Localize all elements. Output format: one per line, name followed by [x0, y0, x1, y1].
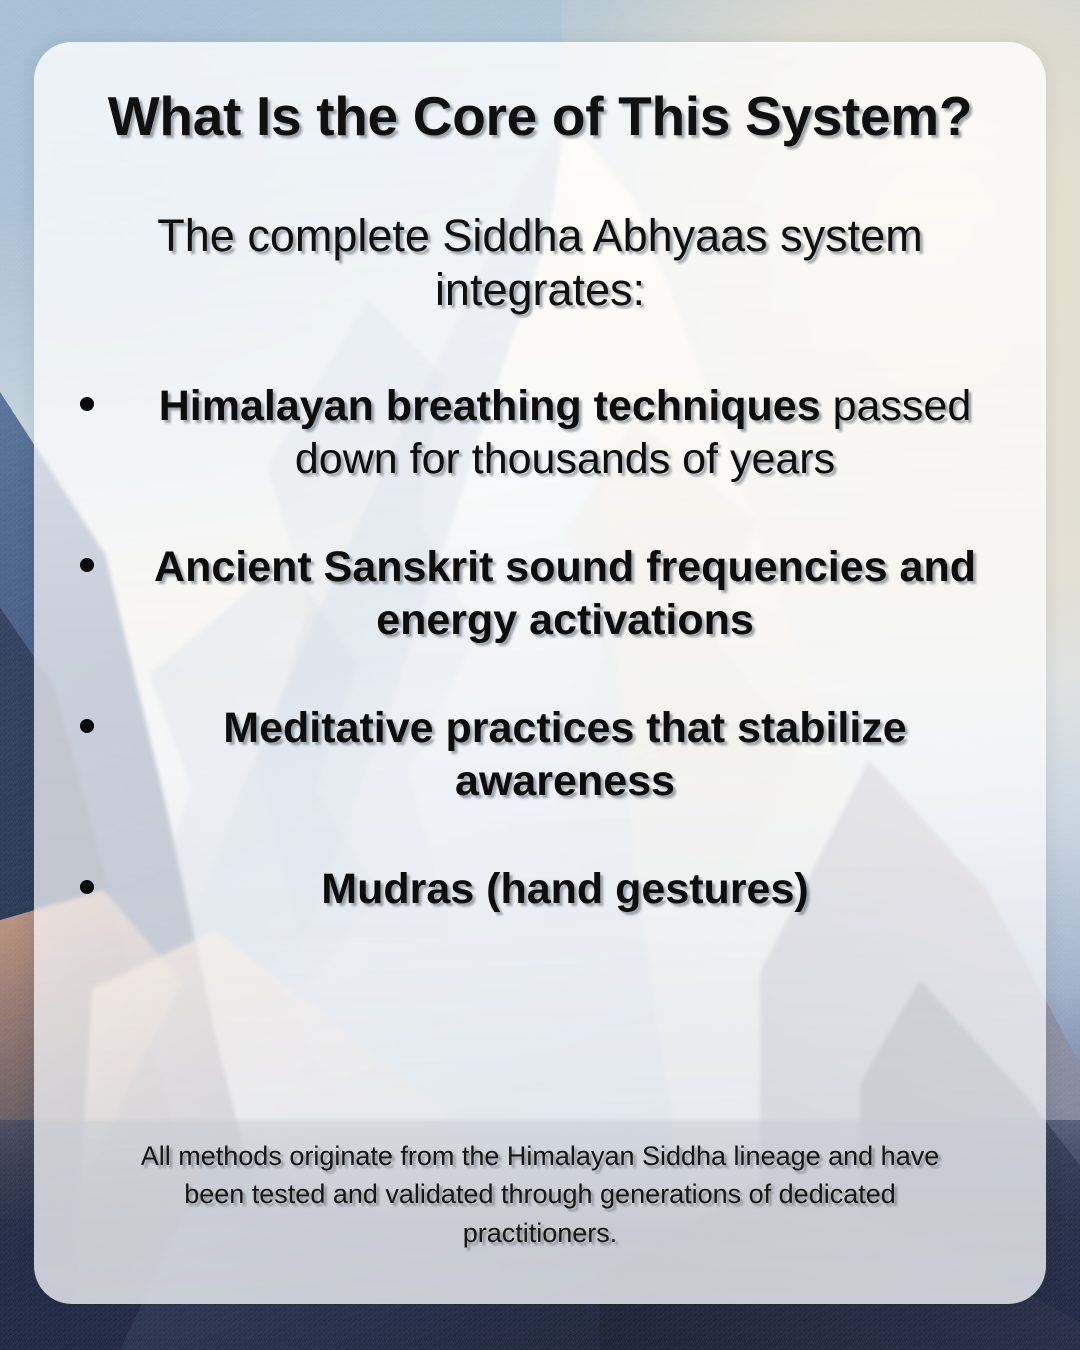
bullet-dot-icon	[80, 719, 94, 733]
poster-canvas: What Is the Core of This System? The com…	[0, 0, 1080, 1350]
list-item: Himalayan breathing techniques passed do…	[64, 380, 1016, 485]
page-title: What Is the Core of This System?	[64, 86, 1016, 147]
bullet-dot-icon	[80, 880, 94, 894]
footnote-text: All methods originate from the Himalayan…	[108, 1137, 972, 1252]
list-item: Ancient Sanskrit sound frequencies and e…	[64, 541, 1016, 646]
list-item: Mudras (hand gestures)	[64, 863, 1016, 915]
list-item: Meditative practices that stabilize awar…	[64, 702, 1016, 807]
list-item-heading: Meditative practices that stabilize awar…	[223, 704, 906, 804]
list-item-heading: Ancient Sanskrit sound frequencies and e…	[154, 543, 976, 643]
list-item-heading: Himalayan breathing techniques	[159, 382, 821, 430]
feature-bullet-list: Himalayan breathing techniques passed do…	[64, 380, 1016, 915]
list-item-heading: Mudras (hand gestures)	[321, 865, 808, 913]
intro-paragraph: The complete Siddha Abhyaas system integ…	[116, 209, 964, 319]
bullet-dot-icon	[80, 558, 94, 572]
bullet-dot-icon	[80, 397, 94, 411]
content-card: What Is the Core of This System? The com…	[34, 42, 1046, 1304]
